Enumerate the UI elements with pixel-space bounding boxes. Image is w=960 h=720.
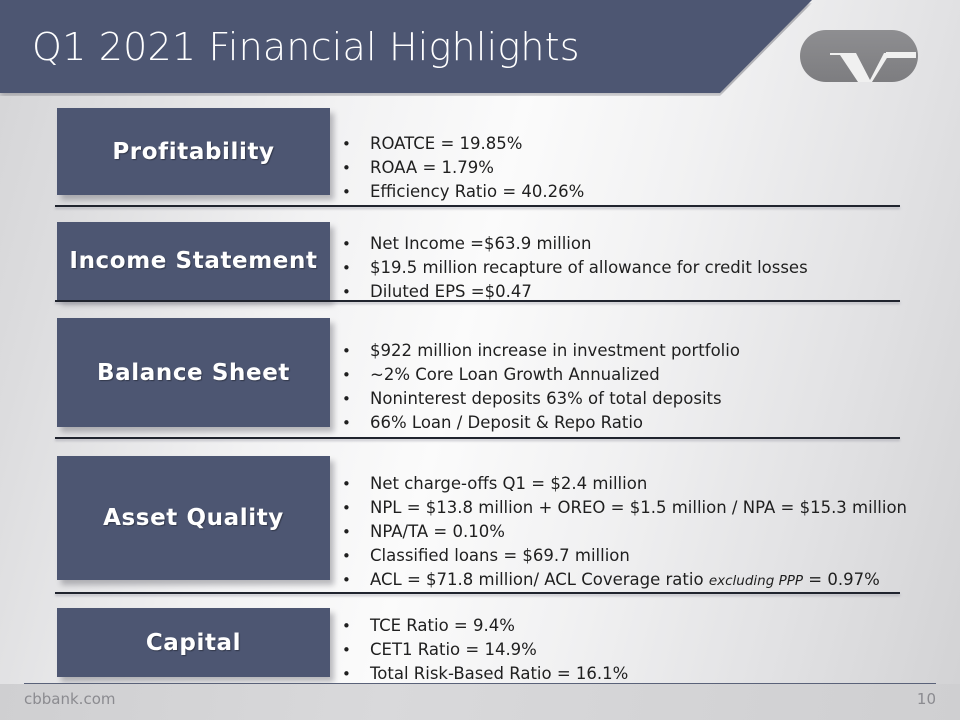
- section-label-text: Income Statement: [69, 248, 317, 274]
- page-title: Q1 2021 Financial Highlights: [32, 25, 580, 69]
- list-item: NPA/TA = 0.10%: [336, 520, 936, 544]
- section-label-box[interactable]: Profitability: [57, 108, 330, 195]
- list-item-acl: ACL = $71.8 million/ ACL Coverage ratio …: [336, 568, 936, 593]
- list-item: CET1 Ratio = 14.9%: [336, 638, 936, 662]
- acl-text-tail: = 0.97%: [803, 570, 880, 589]
- section-label-text: Capital: [146, 630, 241, 656]
- section-income-statement: Income Statement Net Income =$63.9 milli…: [0, 222, 960, 300]
- footer-page-number: 10: [917, 690, 936, 708]
- section-label-text: Profitability: [112, 139, 274, 165]
- section-divider: [55, 592, 900, 594]
- acl-text-lead: ACL = $71.8 million/ ACL Coverage ratio: [370, 570, 709, 589]
- bullet-list: Net Income =$63.9 million $19.5 million …: [336, 232, 936, 304]
- list-item: Classified loans = $69.7 million: [336, 544, 936, 568]
- section-label-text: Balance Sheet: [97, 360, 290, 386]
- footer-band: [0, 684, 960, 720]
- section-divider: [55, 437, 900, 439]
- list-item: ROATCE = 19.85%: [336, 132, 936, 156]
- list-item: $922 million increase in investment port…: [336, 339, 936, 363]
- list-item: Efficiency Ratio = 40.26%: [336, 180, 936, 204]
- list-item: 66% Loan / Deposit & Repo Ratio: [336, 411, 936, 435]
- section-divider: [55, 205, 900, 207]
- list-item: Net charge-offs Q1 = $2.4 million: [336, 472, 936, 496]
- section-profitability: Profitability ROATCE = 19.85% ROAA = 1.7…: [0, 108, 960, 195]
- section-label-box[interactable]: Balance Sheet: [57, 318, 330, 427]
- list-item: ~2% Core Loan Growth Annualized: [336, 363, 936, 387]
- section-label-box[interactable]: Capital: [57, 608, 330, 677]
- section-label-text: Asset Quality: [103, 505, 284, 531]
- list-item: $19.5 million recapture of allowance for…: [336, 256, 936, 280]
- section-asset-quality: Asset Quality Net charge-offs Q1 = $2.4 …: [0, 456, 960, 580]
- section-label-box[interactable]: Income Statement: [57, 222, 330, 300]
- slide: Q1 2021 Financial Highlights Profitabili…: [0, 0, 960, 720]
- section-balance-sheet: Balance Sheet $922 million increase in i…: [0, 318, 960, 427]
- bullet-list: $922 million increase in investment port…: [336, 339, 936, 435]
- bullet-list: ROATCE = 19.85% ROAA = 1.79% Efficiency …: [336, 132, 936, 204]
- bullet-list: Net charge-offs Q1 = $2.4 million NPL = …: [336, 472, 936, 593]
- section-capital: Capital TCE Ratio = 9.4% CET1 Ratio = 14…: [0, 608, 960, 677]
- bullet-list: TCE Ratio = 9.4% CET1 Ratio = 14.9% Tota…: [336, 614, 936, 686]
- cvb-financial-logo-icon: [800, 30, 918, 82]
- list-item: ROAA = 1.79%: [336, 156, 936, 180]
- list-item: Noninterest deposits 63% of total deposi…: [336, 387, 936, 411]
- acl-note: excluding PPP: [709, 573, 803, 589]
- list-item: Net Income =$63.9 million: [336, 232, 936, 256]
- footer-website[interactable]: cbbank.com: [24, 690, 115, 708]
- section-divider: [55, 300, 900, 302]
- section-label-box[interactable]: Asset Quality: [57, 456, 330, 580]
- list-item: TCE Ratio = 9.4%: [336, 614, 936, 638]
- list-item: NPL = $13.8 million + OREO = $1.5 millio…: [336, 496, 936, 520]
